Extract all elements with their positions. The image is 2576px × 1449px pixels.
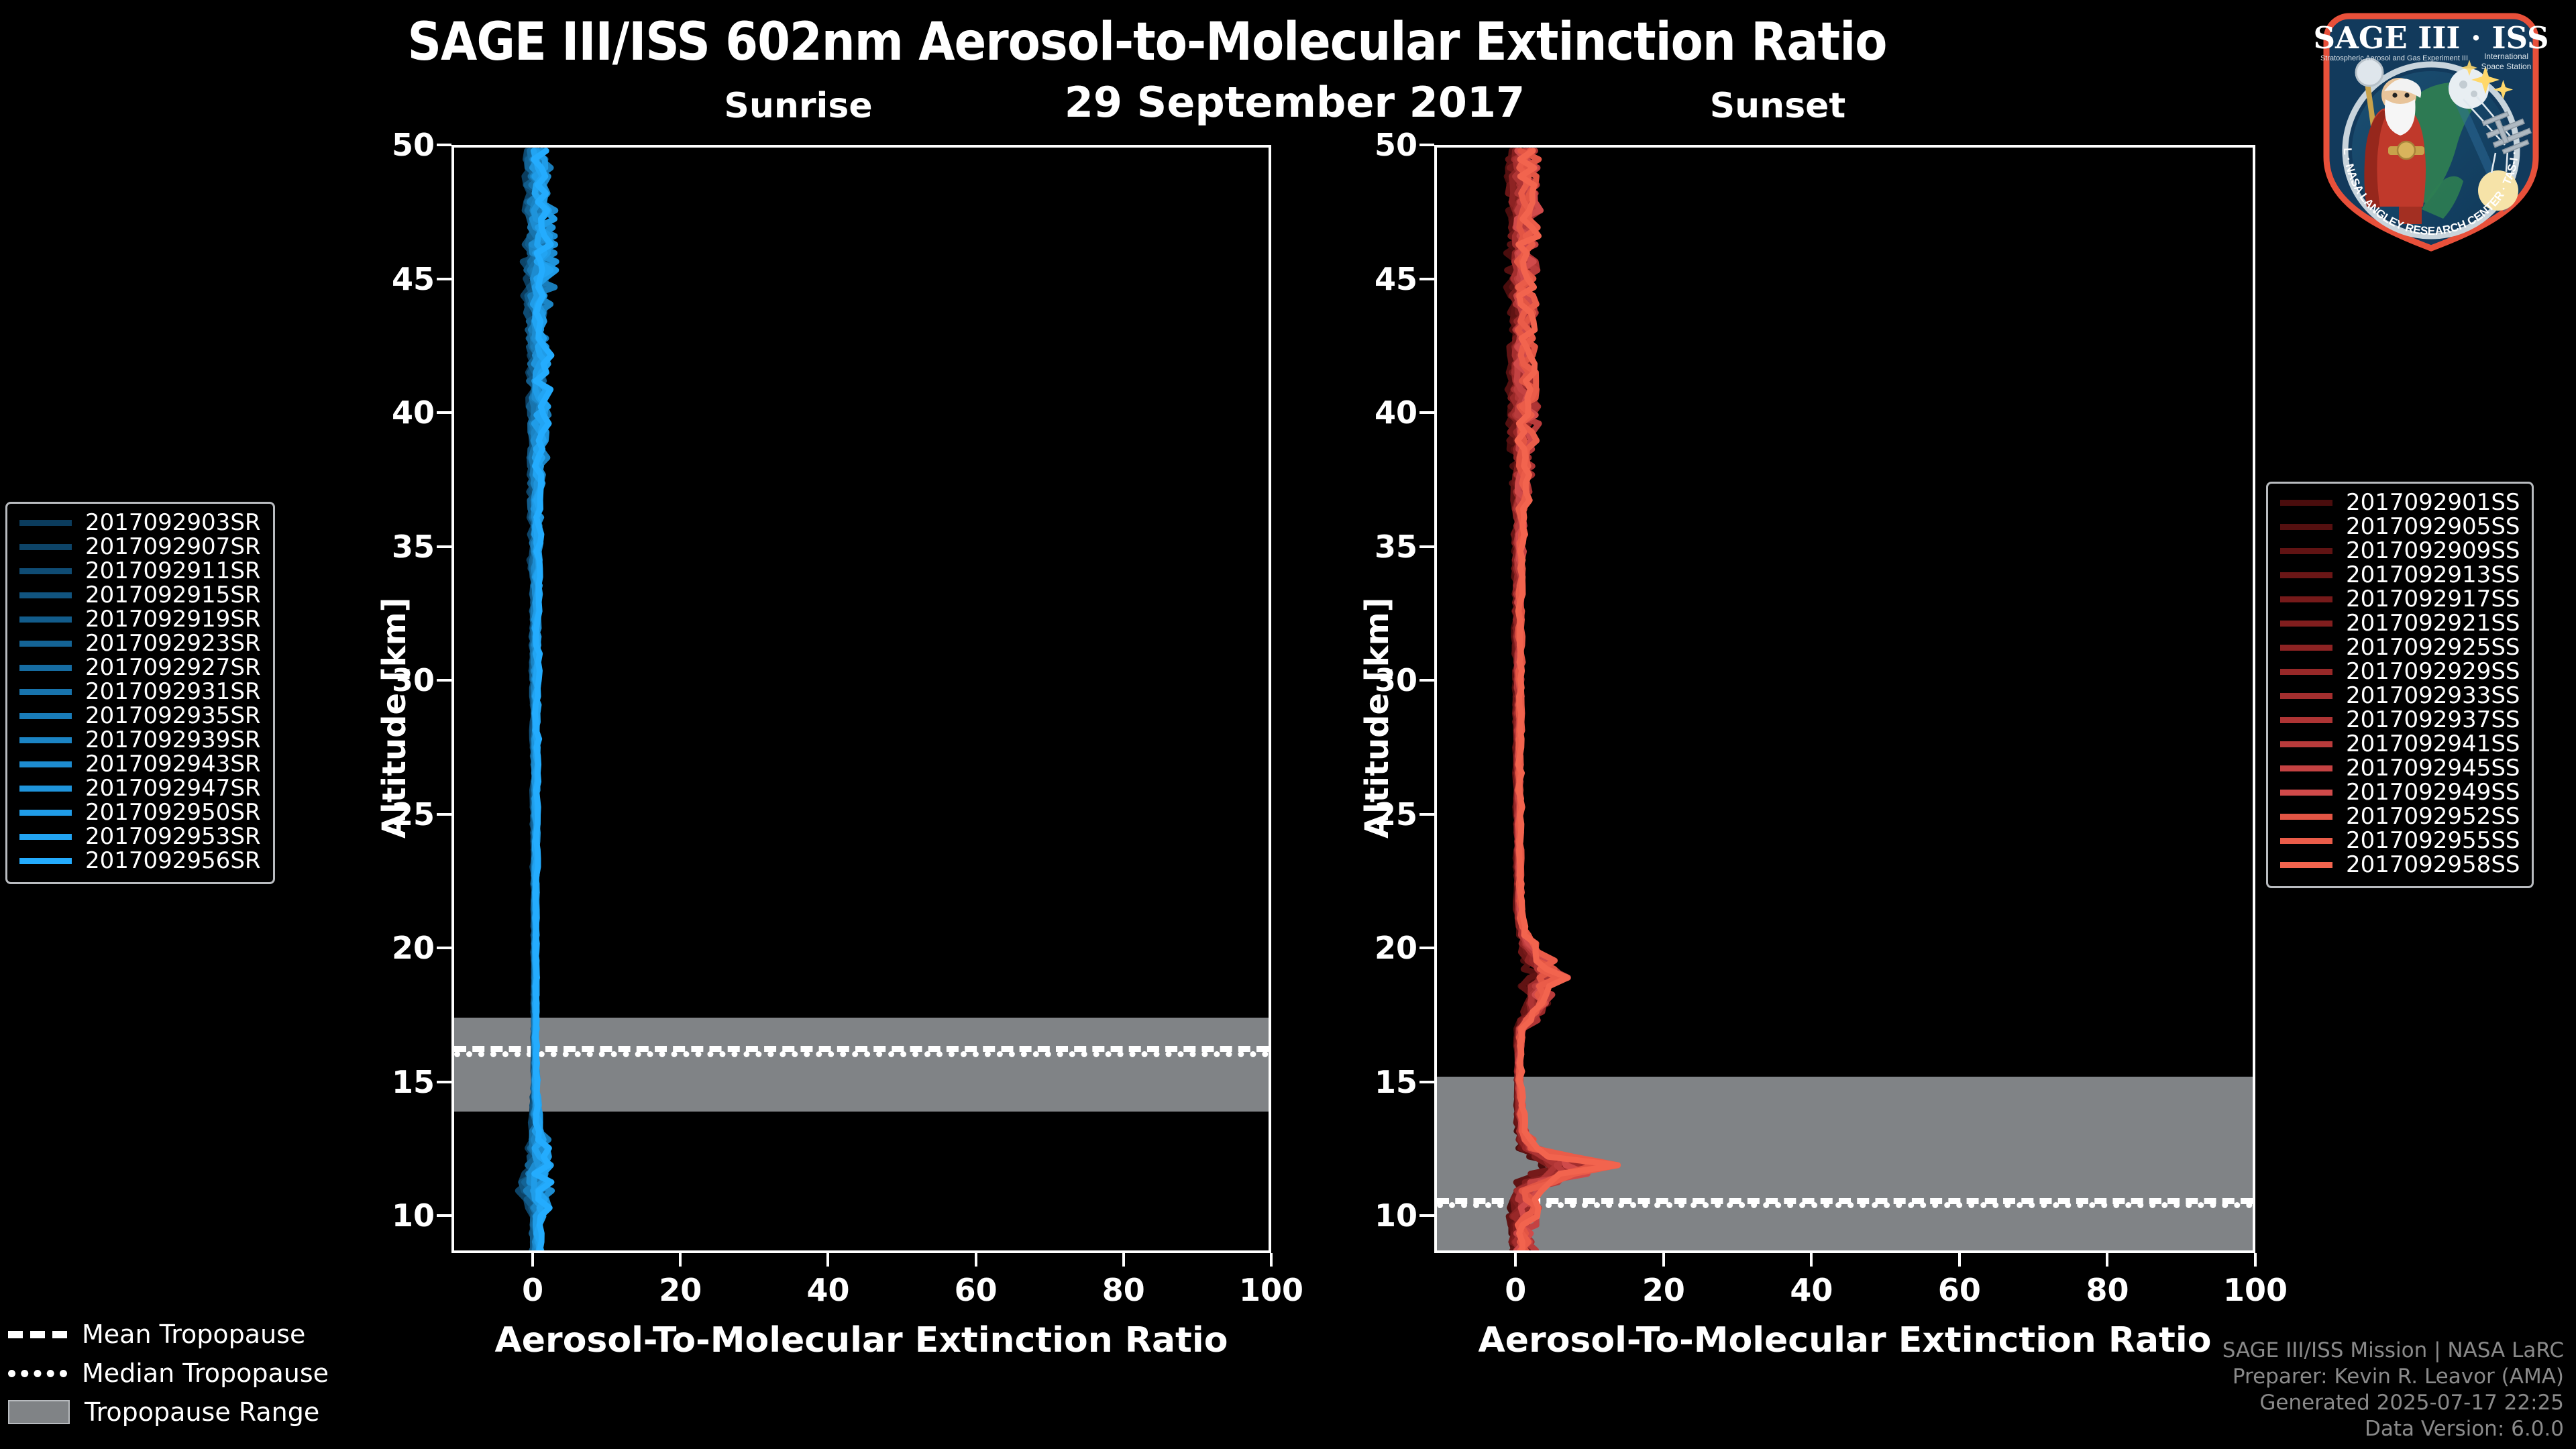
legend-color-swatch-icon <box>19 616 72 623</box>
sunrise-x-tick-label: 100 <box>1211 1272 1332 1308</box>
legend-label-median-tropopause: Median Tropopause <box>82 1358 329 1388</box>
sunrise-y-tick-label: 35 <box>334 529 435 565</box>
sunrise-legend-item[interactable]: 2017092919SR <box>19 607 261 631</box>
patch-title: SAGE III · ISS <box>2313 20 2548 56</box>
legend-color-swatch-icon <box>2280 693 2332 699</box>
sunset-y-tick-mark <box>1419 679 1434 682</box>
sunset-legend-item-label: 2017092955SS <box>2346 827 2520 854</box>
sunset-legend-item-label: 2017092909SS <box>2346 537 2520 564</box>
legend-color-swatch-icon <box>2280 765 2332 771</box>
legend-label-tropopause-range: Tropopause Range <box>85 1397 319 1427</box>
legend-row-tropopause-range: Tropopause Range <box>8 1393 329 1432</box>
sunrise-legend-item-label: 2017092903SR <box>85 509 261 536</box>
sunset-y-tick-mark <box>1419 1081 1434 1083</box>
sunset-y-tick-label: 20 <box>1317 930 1417 966</box>
sunrise-x-tick-label: 20 <box>620 1272 741 1308</box>
legend-color-swatch-icon <box>2280 669 2332 675</box>
sunset-profile-curves <box>1437 148 2253 1250</box>
legend-color-swatch-icon <box>2280 790 2332 796</box>
legend-color-swatch-icon <box>19 544 72 550</box>
patch-subtitle-left: Stratospheric Aerosol and Gas Experiment… <box>2320 54 2468 62</box>
sunset-plot-area <box>1434 145 2255 1253</box>
sunrise-y-tick-label: 40 <box>334 394 435 431</box>
sunset-x-tick-mark <box>2254 1253 2257 1267</box>
dashed-line-icon <box>8 1331 67 1338</box>
sunset-legend-item[interactable]: 2017092913SS <box>2280 563 2520 587</box>
sunrise-legend-item-label: 2017092919SR <box>85 606 261 633</box>
sunset-legend-item[interactable]: 2017092941SS <box>2280 732 2520 756</box>
sunset-legend-item-label: 2017092941SS <box>2346 731 2520 757</box>
sunrise-legend-item[interactable]: 2017092956SR <box>19 849 261 873</box>
sunset-legend-item[interactable]: 2017092933SS <box>2280 684 2520 708</box>
sunset-x-tick-label: 100 <box>2195 1272 2316 1308</box>
sunset-legend-item[interactable]: 2017092921SS <box>2280 611 2520 635</box>
sunset-legend-item-label: 2017092925SS <box>2346 634 2520 661</box>
sunrise-legend-item-label: 2017092939SR <box>85 727 261 753</box>
sunrise-y-tick-label: 50 <box>334 127 435 163</box>
legend-color-swatch-icon <box>2280 741 2332 747</box>
sunrise-legend-item[interactable]: 2017092907SR <box>19 535 261 559</box>
sunrise-legend-item[interactable]: 2017092915SR <box>19 583 261 607</box>
legend-color-swatch-icon <box>19 737 72 743</box>
sunrise-x-axis-label: Aerosol-To-Molecular Extinction Ratio <box>451 1320 1271 1360</box>
sunrise-legend-item-label: 2017092953SR <box>85 823 261 850</box>
legend-color-swatch-icon <box>2280 814 2332 820</box>
sunrise-legend-item[interactable]: 2017092927SR <box>19 655 261 680</box>
sunrise-x-tick-mark <box>826 1253 829 1267</box>
sunrise-y-tick-label: 45 <box>334 261 435 297</box>
sunset-y-tick-mark <box>1419 411 1434 414</box>
sunset-legend-item[interactable]: 2017092909SS <box>2280 539 2520 563</box>
sunrise-y-tick-mark <box>437 1214 451 1217</box>
gray-band-swatch-icon <box>8 1400 70 1424</box>
credit-line-generated: Generated 2025-07-17 22:25 <box>2222 1390 2564 1416</box>
sunset-x-tick-mark <box>2106 1253 2108 1267</box>
sunset-legend-item-label: 2017092937SS <box>2346 706 2520 733</box>
sunset-legend-item[interactable]: 2017092958SS <box>2280 853 2520 877</box>
sunrise-y-tick-mark <box>437 144 451 146</box>
sunrise-legend-item-label: 2017092907SR <box>85 533 261 560</box>
sunrise-legend-item[interactable]: 2017092947SR <box>19 776 261 800</box>
sunrise-legend-item[interactable]: 2017092931SR <box>19 680 261 704</box>
sunset-y-tick-mark <box>1419 278 1434 280</box>
sunset-y-axis-label: Altitude [km] <box>1358 597 1396 839</box>
sunrise-legend-item[interactable]: 2017092911SR <box>19 559 261 583</box>
dotted-line-icon <box>8 1370 67 1377</box>
legend-color-swatch-icon <box>19 810 72 816</box>
sunset-x-tick-label: 80 <box>2047 1272 2167 1308</box>
sunset-legend-item[interactable]: 2017092937SS <box>2280 708 2520 732</box>
sunrise-x-tick-label: 0 <box>472 1272 593 1308</box>
legend-color-swatch-icon <box>2280 645 2332 651</box>
sunrise-legend[interactable]: 2017092903SR2017092907SR2017092911SR2017… <box>5 502 275 884</box>
sunrise-legend-item-label: 2017092915SR <box>85 582 261 608</box>
sunset-legend-item[interactable]: 2017092949SS <box>2280 780 2520 804</box>
sunset-y-tick-label: 10 <box>1317 1197 1417 1234</box>
sunrise-legend-item[interactable]: 2017092935SR <box>19 704 261 728</box>
sunset-legend-item-label: 2017092952SS <box>2346 803 2520 830</box>
sunset-y-tick-label: 35 <box>1317 529 1417 565</box>
sunset-legend-item[interactable]: 2017092925SS <box>2280 635 2520 659</box>
sunset-legend-item-label: 2017092901SS <box>2346 489 2520 516</box>
tropopause-legend: Mean Tropopause Median Tropopause Tropop… <box>8 1315 329 1432</box>
legend-color-swatch-icon <box>19 568 72 574</box>
sunset-y-tick-label: 45 <box>1317 261 1417 297</box>
sunrise-x-tick-label: 60 <box>916 1272 1036 1308</box>
sunrise-legend-item-label: 2017092950SR <box>85 799 261 826</box>
sunrise-y-tick-mark <box>437 545 451 548</box>
legend-color-swatch-icon <box>2280 572 2332 578</box>
sunrise-y-tick-mark <box>437 278 451 280</box>
sunset-y-tick-mark <box>1419 813 1434 816</box>
sunset-legend-item[interactable]: 2017092901SS <box>2280 490 2520 515</box>
sunset-x-tick-mark <box>1662 1253 1665 1267</box>
sunset-y-tick-mark <box>1419 1214 1434 1217</box>
sunrise-legend-item[interactable]: 2017092943SR <box>19 752 261 776</box>
sunset-y-tick-label: 40 <box>1317 394 1417 431</box>
sunrise-legend-item-label: 2017092911SR <box>85 557 261 584</box>
sunrise-legend-item-label: 2017092935SR <box>85 702 261 729</box>
legend-label-mean-tropopause: Mean Tropopause <box>82 1320 305 1349</box>
sunset-x-axis-label: Aerosol-To-Molecular Extinction Ratio <box>1434 1320 2255 1360</box>
page-title: SAGE III/ISS 602nm Aerosol-to-Molecular … <box>0 12 2294 72</box>
sunset-legend-item-label: 2017092921SS <box>2346 610 2520 637</box>
sunset-legend-item-label: 2017092905SS <box>2346 513 2520 540</box>
legend-color-swatch-icon <box>19 592 72 598</box>
sunrise-legend-item[interactable]: 2017092923SR <box>19 631 261 655</box>
sunrise-legend-item[interactable]: 2017092903SR <box>19 511 261 535</box>
sunset-x-tick-mark <box>1958 1253 1961 1267</box>
sunset-y-tick-label: 50 <box>1317 127 1417 163</box>
sunset-legend-item-label: 2017092958SS <box>2346 851 2520 878</box>
sunset-x-tick-label: 60 <box>1899 1272 2020 1308</box>
legend-color-swatch-icon <box>2280 621 2332 627</box>
sunrise-legend-item[interactable]: 2017092939SR <box>19 728 261 752</box>
legend-color-swatch-icon <box>19 641 72 647</box>
patch-subtitle-right-1: International <box>2484 52 2528 61</box>
sunset-legend-item-label: 2017092913SS <box>2346 561 2520 588</box>
sunset-y-tick-mark <box>1419 144 1434 146</box>
sunset-legend-item[interactable]: 2017092952SS <box>2280 804 2520 828</box>
sunrise-x-tick-mark <box>1122 1253 1125 1267</box>
sunrise-y-tick-label: 15 <box>334 1064 435 1100</box>
sunset-y-tick-mark <box>1419 947 1434 949</box>
legend-color-swatch-icon <box>19 834 72 840</box>
sunset-x-tick-mark <box>1810 1253 1813 1267</box>
legend-color-swatch-icon <box>19 689 72 695</box>
sunrise-legend-item[interactable]: 2017092953SR <box>19 824 261 849</box>
sunrise-plot-area <box>451 145 1271 1253</box>
sunset-legend-item-label: 2017092929SS <box>2346 658 2520 685</box>
legend-color-swatch-icon <box>19 665 72 671</box>
legend-color-swatch-icon <box>2280 500 2332 506</box>
sunset-legend-item-label: 2017092949SS <box>2346 779 2520 806</box>
sunset-legend-item[interactable]: 2017092917SS <box>2280 587 2520 611</box>
sunrise-y-axis-label: Altitude [km] <box>376 597 413 839</box>
sunset-x-tick-label: 0 <box>1455 1272 1576 1308</box>
legend-color-swatch-icon <box>2280 524 2332 530</box>
sunrise-legend-item-label: 2017092947SR <box>85 775 261 802</box>
sunset-legend-item-label: 2017092945SS <box>2346 755 2520 782</box>
sunrise-x-tick-mark <box>679 1253 682 1267</box>
sunrise-panel-label: Sunrise <box>657 86 939 126</box>
legend-color-swatch-icon <box>19 761 72 767</box>
sunset-y-tick-mark <box>1419 545 1434 548</box>
legend-color-swatch-icon <box>19 520 72 526</box>
credits-block: SAGE III/ISS Mission | NASA LaRC Prepare… <box>2222 1338 2564 1442</box>
sunset-legend-item[interactable]: 2017092945SS <box>2280 756 2520 780</box>
sunrise-profile-curves <box>454 148 1269 1250</box>
sunrise-y-tick-mark <box>437 411 451 414</box>
legend-color-swatch-icon <box>19 858 72 864</box>
legend-color-swatch-icon <box>2280 596 2332 602</box>
sunset-profile-line <box>1517 151 1618 1250</box>
sunrise-legend-item-label: 2017092923SR <box>85 630 261 657</box>
sage-iii-iss-mission-patch-logo: SAGE III · ISS Stratospheric Aerosol and… <box>2297 1 2565 255</box>
sunrise-x-tick-label: 40 <box>767 1272 888 1308</box>
credit-line-preparer: Preparer: Kevin R. Leavor (AMA) <box>2222 1364 2564 1390</box>
sunset-legend-item-label: 2017092933SS <box>2346 682 2520 709</box>
sunrise-y-tick-mark <box>437 1081 451 1083</box>
legend-color-swatch-icon <box>2280 548 2332 554</box>
legend-color-swatch-icon <box>19 786 72 792</box>
legend-color-swatch-icon <box>19 713 72 719</box>
sunset-legend-item-label: 2017092917SS <box>2346 586 2520 612</box>
sunrise-legend-item-label: 2017092927SR <box>85 654 261 681</box>
legend-color-swatch-icon <box>2280 862 2332 868</box>
sunset-legend-item[interactable]: 2017092905SS <box>2280 515 2520 539</box>
sunset-panel-label: Sunset <box>1637 86 1919 126</box>
sunrise-x-tick-mark <box>975 1253 977 1267</box>
sunset-legend[interactable]: 2017092901SS2017092905SS2017092909SS2017… <box>2266 482 2534 888</box>
legend-color-swatch-icon <box>2280 717 2332 723</box>
legend-color-swatch-icon <box>2280 838 2332 844</box>
sunrise-legend-item-label: 2017092931SR <box>85 678 261 705</box>
sunrise-x-tick-mark <box>1270 1253 1273 1267</box>
sunrise-x-tick-label: 80 <box>1063 1272 1184 1308</box>
date-subtitle: 29 September 2017 <box>1026 78 1563 127</box>
credit-line-data-version: Data Version: 6.0.0 <box>2222 1416 2564 1442</box>
sunrise-y-tick-label: 20 <box>334 930 435 966</box>
sunset-legend-item[interactable]: 2017092929SS <box>2280 659 2520 684</box>
sunrise-legend-item[interactable]: 2017092950SR <box>19 800 261 824</box>
sunset-y-tick-label: 15 <box>1317 1064 1417 1100</box>
sunset-x-tick-label: 20 <box>1603 1272 1724 1308</box>
credit-line-mission: SAGE III/ISS Mission | NASA LaRC <box>2222 1338 2564 1364</box>
legend-row-mean-tropopause: Mean Tropopause <box>8 1315 329 1354</box>
sunrise-y-tick-mark <box>437 679 451 682</box>
sunrise-y-tick-mark <box>437 813 451 816</box>
sunset-x-tick-mark <box>1514 1253 1517 1267</box>
sunrise-y-tick-mark <box>437 947 451 949</box>
sunset-profile-line <box>1516 151 1587 1250</box>
sunrise-x-tick-mark <box>531 1253 534 1267</box>
sunrise-legend-item-label: 2017092956SR <box>85 847 261 874</box>
sunset-x-tick-label: 40 <box>1751 1272 1872 1308</box>
patch-subtitle-right-2: Space Station <box>2481 62 2532 71</box>
sunset-legend-item[interactable]: 2017092955SS <box>2280 828 2520 853</box>
sunrise-legend-item-label: 2017092943SR <box>85 751 261 777</box>
legend-row-median-tropopause: Median Tropopause <box>8 1354 329 1393</box>
sunrise-y-tick-label: 10 <box>334 1197 435 1234</box>
